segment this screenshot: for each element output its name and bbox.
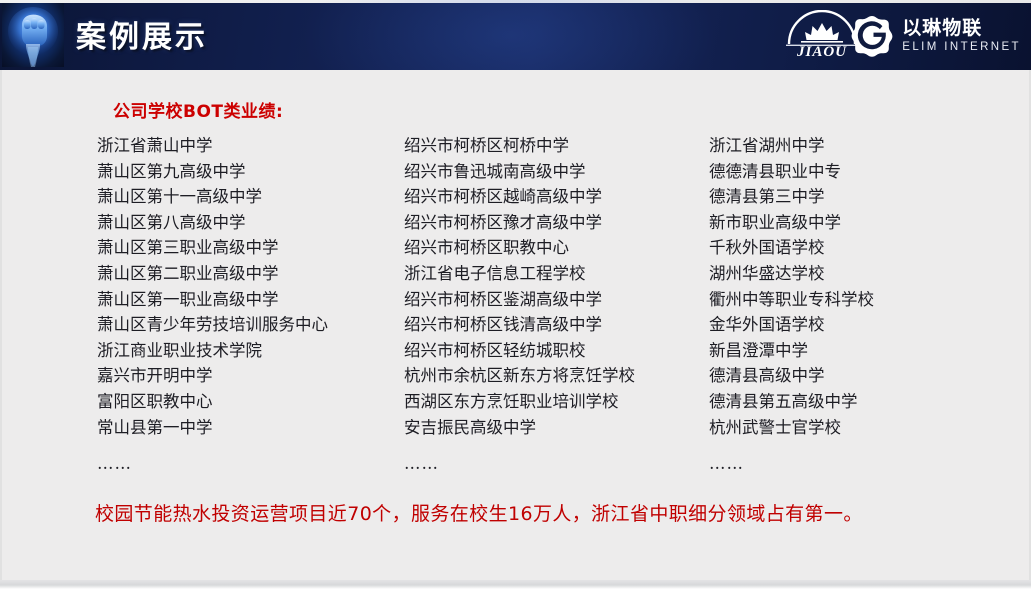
slide: 案例展示 JIAOU 以琳物联 ELIM INTERNET — [0, 0, 1031, 589]
list-item: 绍兴市柯桥区职教中心 — [404, 235, 709, 261]
elim-wordmark: 以琳物联 ELIM INTERNET — [902, 19, 1021, 54]
school-list-column-3: 浙江省湖州中学 德德清县职业中专 德清县第三中学 新市职业高级中学 千秋外国语学… — [709, 133, 1009, 477]
list-item: 萧山区青少年劳技培训服务中心 — [97, 312, 404, 338]
list-ellipsis: …… — [709, 451, 1009, 477]
list-item: 金华外国语学校 — [709, 312, 1009, 338]
summary-text: 校园节能热水投资运营项目近70个，服务在校生16万人，浙江省中职细分领域占有第一… — [95, 499, 863, 526]
slide-left-edge — [0, 70, 2, 589]
list-item: 绍兴市柯桥区钱清高级中学 — [404, 312, 709, 338]
list-item: 湖州华盛达学校 — [709, 261, 1009, 287]
list-item: 新昌澄潭中学 — [709, 338, 1009, 364]
elim-logo: 以琳物联 ELIM INTERNET — [850, 14, 1021, 58]
list-item: 浙江商业职业技术学院 — [97, 338, 404, 364]
list-item: 衢州中等职业专科学校 — [709, 287, 1009, 313]
list-item: 萧山区第九高级中学 — [97, 159, 404, 185]
page-title: 案例展示 — [76, 12, 208, 56]
list-item: 浙江省萧山中学 — [97, 133, 404, 159]
school-list-columns: 浙江省萧山中学 萧山区第九高级中学 萧山区第十一高级中学 萧山区第八高级中学 萧… — [97, 133, 1001, 477]
list-item: 绍兴市柯桥区柯桥中学 — [404, 133, 709, 159]
elim-g-mark-icon — [850, 14, 894, 58]
list-item: 杭州市余杭区新东方将烹饪学校 — [404, 363, 709, 389]
list-ellipsis: …… — [404, 451, 709, 477]
list-item: 绍兴市柯桥区越崎高级中学 — [404, 184, 709, 210]
list-item: 绍兴市柯桥区轻纺城职校 — [404, 338, 709, 364]
list-item: 德清县第三中学 — [709, 184, 1009, 210]
slide-content: 公司学校BOT类业绩: 浙江省萧山中学 萧山区第九高级中学 萧山区第十一高级中学… — [0, 70, 1031, 589]
elim-name-en: ELIM INTERNET — [902, 42, 1021, 54]
slide-header: 案例展示 JIAOU 以琳物联 ELIM INTERNET — [0, 0, 1031, 70]
list-item: 萧山区第二职业高级中学 — [97, 261, 404, 287]
list-item: 萧山区第十一高级中学 — [97, 184, 404, 210]
list-item: 浙江省电子信息工程学校 — [404, 261, 709, 287]
raised-fist-icon — [2, 3, 64, 67]
list-item: 浙江省湖州中学 — [709, 133, 1009, 159]
list-item: 绍兴市柯桥区豫才高级中学 — [404, 210, 709, 236]
list-item: 安吉振民高级中学 — [404, 415, 709, 441]
list-item: 富阳区职教中心 — [97, 389, 404, 415]
list-item: 德清县高级中学 — [709, 363, 1009, 389]
list-item: 萧山区第三职业高级中学 — [97, 235, 404, 261]
list-item: 常山县第一中学 — [97, 415, 404, 441]
school-list-column-1: 浙江省萧山中学 萧山区第九高级中学 萧山区第十一高级中学 萧山区第八高级中学 萧… — [97, 133, 404, 477]
elim-name-cn: 以琳物联 — [902, 19, 1021, 38]
list-item: 千秋外国语学校 — [709, 235, 1009, 261]
list-item: 绍兴市柯桥区鉴湖高级中学 — [404, 287, 709, 313]
list-item: 德清县第五高级中学 — [709, 389, 1009, 415]
list-item: 嘉兴市开明中学 — [97, 363, 404, 389]
school-list-column-2: 绍兴市柯桥区柯桥中学 绍兴市鲁迅城南高级中学 绍兴市柯桥区越崎高级中学 绍兴市柯… — [404, 133, 709, 477]
header-glow-decoration — [300, 0, 720, 70]
list-item: 新市职业高级中学 — [709, 210, 1009, 236]
header-top-rule — [0, 0, 1031, 3]
list-item: 德德清县职业中专 — [709, 159, 1009, 185]
list-item: 绍兴市鲁迅城南高级中学 — [404, 159, 709, 185]
list-item: 萧山区第一职业高级中学 — [97, 287, 404, 313]
list-ellipsis: …… — [97, 451, 404, 477]
section-heading: 公司学校BOT类业绩: — [113, 97, 283, 122]
list-item: 萧山区第八高级中学 — [97, 210, 404, 236]
list-item: 杭州武警士官学校 — [709, 415, 1009, 441]
list-item: 西湖区东方烹饪职业培训学校 — [404, 389, 709, 415]
